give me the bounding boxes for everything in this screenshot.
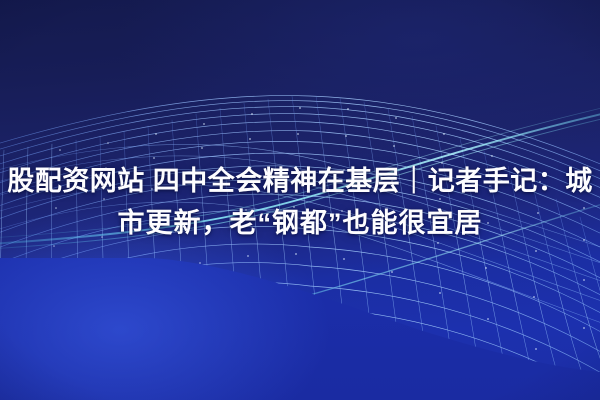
banner-image: 股配资网站 四中全会精神在基层｜记者手记：城 市更新，老“钢都”也能很宜居 <box>0 0 600 400</box>
headline-line-2: 市更新，老“钢都”也能很宜居 <box>0 202 600 244</box>
headline-line-1: 股配资网站 四中全会精神在基层｜记者手记：城 <box>0 160 600 202</box>
banner-headline: 股配资网站 四中全会精神在基层｜记者手记：城 市更新，老“钢都”也能很宜居 <box>0 160 600 244</box>
